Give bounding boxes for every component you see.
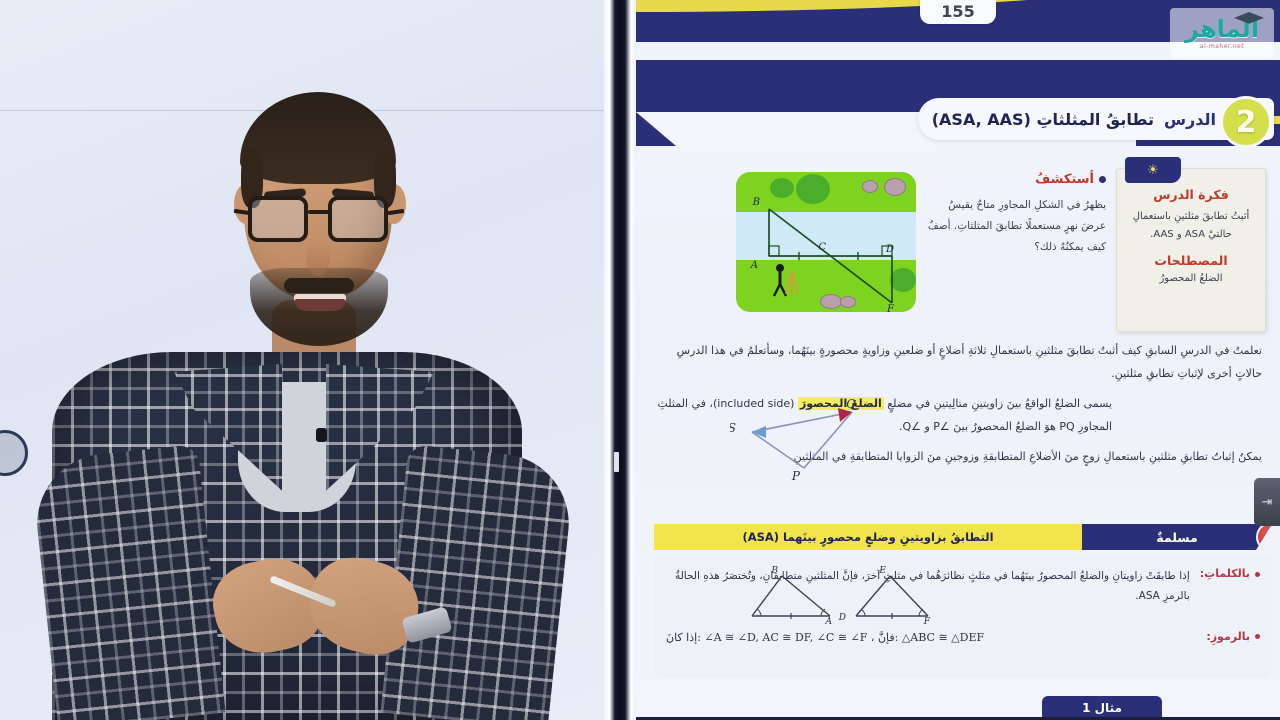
explore-section: ☀ فكرة الدرس أثبتُ تطابقَ مثلثينِ باستعم…	[650, 168, 1266, 332]
svg-text:A: A	[825, 617, 833, 627]
presenter-mouth	[294, 294, 346, 311]
svg-text:B: B	[770, 566, 778, 576]
page-number-chip: 155	[920, 0, 996, 24]
screen-root: 155 الماهر al-maher.net الدرس تطابقُ الم…	[0, 0, 1280, 720]
panel-collapse-handle[interactable]: ⇥	[1254, 478, 1280, 526]
eyeglass-lens-right	[328, 196, 388, 242]
svg-text:P: P	[791, 469, 801, 482]
bullet-dot-icon	[1255, 572, 1260, 577]
lesson-header-bar: الدرس تطابقُ المثلثاتِ (ASA, AAS) 2	[636, 60, 1280, 146]
postulate-banner: مسلمةٌ التطابقُ بزاويتينِ وضلعٍ محصورٍ ب…	[654, 524, 1272, 550]
presenter-figure	[0, 0, 604, 720]
bullet-dot-icon	[1099, 176, 1106, 183]
panel-collapse-icon: ⇥	[1262, 495, 1273, 510]
lightbulb-icon: ☀	[1147, 164, 1159, 177]
postulate-symbols-label-text: بالرموزِ:	[1206, 630, 1250, 643]
presenter-hair	[240, 92, 396, 184]
channel-logo-watermark: الماهر al-maher.net	[1170, 8, 1274, 58]
survey-triangles-svg: B A C D F	[736, 172, 916, 312]
presenter-mustache	[284, 278, 354, 293]
postulate-symbols-label: بالرموزِ:	[1206, 629, 1260, 644]
svg-text:F: F	[886, 304, 895, 312]
postulate-label: مسلمةٌ	[1082, 524, 1272, 550]
postulate-words-label: بالكلماتِ:	[1200, 566, 1260, 607]
triangle-pqs-figure: Q S P	[730, 392, 880, 482]
bullet-dot-icon	[1255, 634, 1260, 639]
postulate-title: التطابقُ بزاويتينِ وضلعٍ محصورٍ بينَهما …	[654, 524, 1082, 550]
river-survey-diagram: B A C D F	[736, 172, 916, 312]
svg-text:D: D	[838, 613, 846, 623]
logo-subtext: al-maher.net	[1200, 43, 1244, 50]
svg-text:Q: Q	[846, 397, 856, 411]
lesson-number-badge: 2	[1220, 96, 1272, 148]
postulate-label-text: مسلمةٌ	[1156, 530, 1198, 545]
svg-text:F: F	[923, 617, 931, 627]
lesson-word-label: الدرس	[1164, 110, 1216, 129]
lapel-microphone	[316, 428, 327, 442]
explore-body-text: يظهرُ في الشكلِ المجاورِ متاحٌ يقيسُ عرض…	[926, 195, 1106, 258]
svg-text:E: E	[878, 566, 886, 576]
svg-text:C: C	[818, 242, 826, 253]
postulate-body: بالكلماتِ: إذا طابقَتْ زاويتانِ والضلعُ …	[654, 556, 1272, 678]
paragraph-intro: تعلمتُ في الدرسِ السابقِ كيف أثبتُ تطابق…	[654, 340, 1262, 385]
surveyor-figure	[774, 264, 798, 296]
explore-title-text: أستكشفُ	[1035, 172, 1094, 187]
presenter-arm-left	[30, 444, 225, 720]
svg-text:D: D	[885, 244, 894, 255]
included-side-prefix: يسمى الضلعُ الواقعُ بينَ زاويتينِ متالِي…	[887, 397, 1112, 410]
divider-notch	[614, 452, 619, 472]
eyeglass-bridge	[308, 210, 330, 214]
terms-body: الضلعُ المحصورُ	[1127, 273, 1255, 284]
lesson-idea-tab: ☀	[1125, 157, 1181, 183]
terms-heading: المصطلحات	[1127, 253, 1255, 268]
panel-divider	[604, 0, 636, 720]
lesson-idea-body: أثبتُ تطابقَ مثلثينِ باستعمالِ حالتيْ AS…	[1127, 208, 1255, 243]
lesson-idea-heading: فكرة الدرس	[1127, 187, 1255, 202]
explore-text-block: أستكشفُ يظهرُ في الشكلِ المجاورِ متاحٌ ي…	[926, 168, 1106, 332]
postulate-words-label-text: بالكلماتِ:	[1200, 567, 1250, 580]
textbook-page-panel: 155 الماهر al-maher.net الدرس تطابقُ الم…	[636, 0, 1280, 720]
eyeglass-lens-left	[248, 196, 308, 242]
lesson-title-text: تطابقُ المثلثاتِ (ASA, AAS)	[932, 110, 1154, 129]
svg-text:A: A	[750, 260, 758, 271]
seal-stamp-icon	[1256, 522, 1280, 552]
svg-text:B: B	[752, 197, 760, 208]
congruent-triangles-figure: B C A E D F	[742, 564, 942, 636]
presenter-nose	[306, 238, 330, 276]
svg-text:S: S	[730, 421, 736, 435]
video-presenter-panel	[0, 0, 604, 720]
lesson-idea-card: ☀ فكرة الدرس أثبتُ تطابقَ مثلثينِ باستعم…	[1116, 168, 1266, 332]
explore-title-row: أستكشفُ	[926, 172, 1106, 187]
